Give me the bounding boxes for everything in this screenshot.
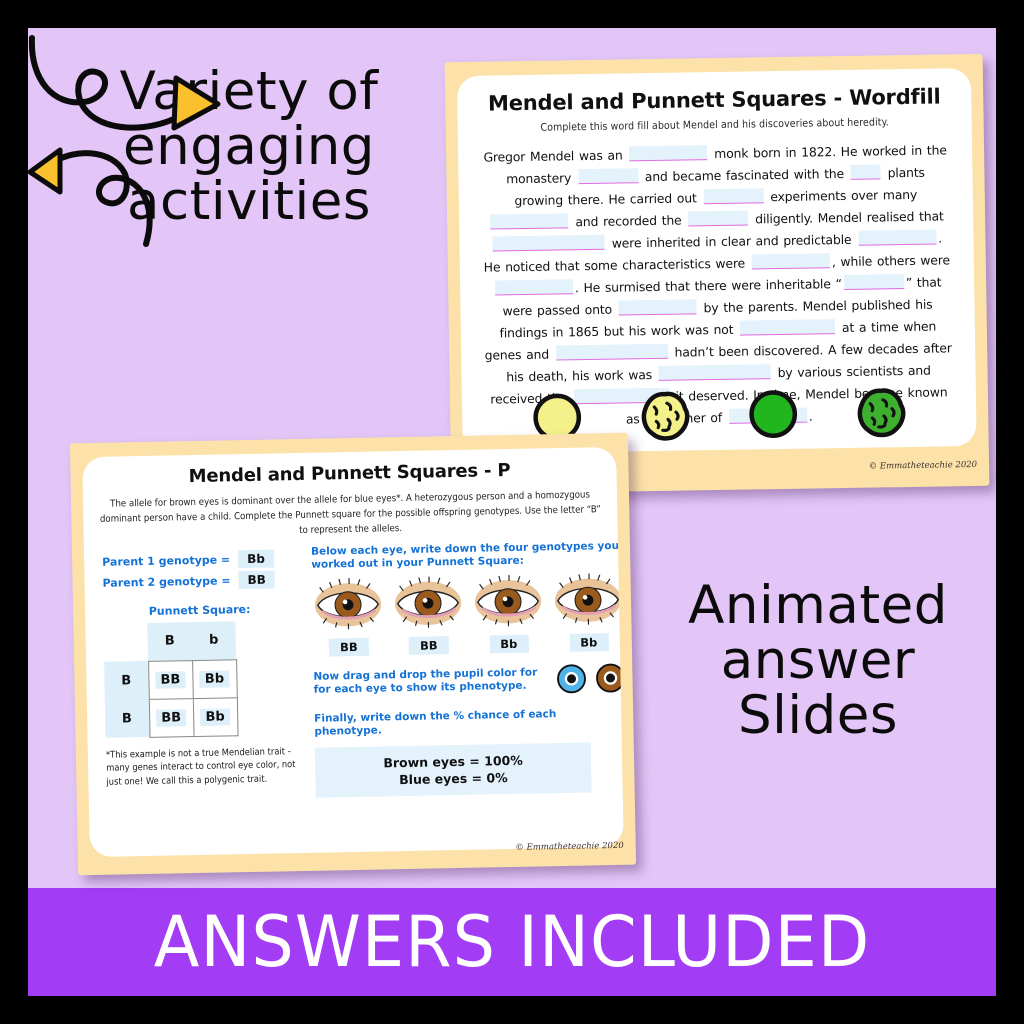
punnett-col-header: b xyxy=(191,621,236,660)
pupil-blue-icon[interactable] xyxy=(556,664,587,695)
eye-item: BB xyxy=(312,576,386,656)
punnett-cell-value: BB xyxy=(156,709,186,727)
wordfill-page: Mendel and Punnett Squares - Wordfill Co… xyxy=(457,68,977,454)
punnett-cell-value: BB xyxy=(155,671,185,689)
eye-genotype-tag[interactable]: BB xyxy=(409,636,449,655)
wordfill-blank[interactable] xyxy=(629,145,707,161)
wordfill-blank[interactable] xyxy=(688,211,748,227)
wordfill-blank[interactable] xyxy=(740,319,835,335)
punnett-cell[interactable]: Bb xyxy=(193,697,238,736)
wordfill-blank[interactable] xyxy=(578,168,638,184)
worksheet-card-punnett[interactable]: Mendel and Punnett Squares - P The allel… xyxy=(70,433,636,876)
wf-text: experiments over many xyxy=(770,187,917,204)
percent-answer-box[interactable]: Brown eyes = 100% Blue eyes = 0% xyxy=(315,742,592,797)
wordfill-blank[interactable] xyxy=(752,253,830,269)
punnett-page: Mendel and Punnett Squares - P The allel… xyxy=(82,447,624,857)
eye-icon xyxy=(551,572,623,627)
punnett-header-row: B b xyxy=(103,621,236,662)
punnett-row: B BB Bb xyxy=(104,659,237,700)
punnett-row-header: B xyxy=(105,699,150,738)
wordfill-blank[interactable] xyxy=(493,235,605,252)
wordfill-title: Mendel and Punnett Squares - Wordfill xyxy=(457,84,971,116)
drag-drop-row: Now drag and drop the pupil color for fo… xyxy=(313,665,623,699)
parent1-label: Parent 1 genotype = xyxy=(102,553,230,568)
punnett-cell-value: Bb xyxy=(200,670,230,688)
curved-arrow-right xyxy=(28,148,228,268)
pea-yellow-wrinkled xyxy=(638,388,693,443)
eye-item: BB xyxy=(392,575,466,655)
wf-text: . He surmised that there were inheritabl… xyxy=(575,276,842,295)
eye-item: Bb xyxy=(471,573,545,653)
parent2-value[interactable]: BB xyxy=(238,570,275,589)
wordfill-blank[interactable] xyxy=(495,279,573,295)
headline-right: Animated answer Slides xyxy=(638,578,996,743)
wordfill-blank[interactable] xyxy=(844,274,904,290)
punnett-row: B BB Bb xyxy=(105,697,238,738)
wf-text: , while others were xyxy=(832,252,950,269)
eye-genotype-tag[interactable]: Bb xyxy=(569,633,608,652)
pea-green-round xyxy=(746,387,801,442)
wordfill-subtitle: Complete this word fill about Mendel and… xyxy=(458,115,972,135)
pea-green-wrinkled xyxy=(854,385,909,440)
punnett-columns: Parent 1 genotype = Bb Parent 2 genotype… xyxy=(84,532,623,802)
drag-instruction: Now drag and drop the pupil color for fo… xyxy=(313,666,548,697)
wordfill-blank[interactable] xyxy=(619,299,697,315)
answers-included-banner: ANSWERS INCLUDED xyxy=(28,888,996,996)
punnett-footnote: *This example is not a true Mendelian tr… xyxy=(106,745,303,789)
wordfill-blank[interactable] xyxy=(851,164,881,179)
eye-genotype-tag[interactable]: Bb xyxy=(489,635,528,654)
punnett-grid: B b B BB Bb xyxy=(103,620,304,738)
parent1-row: Parent 1 genotype = Bb xyxy=(102,549,301,571)
punnett-square-heading: Punnett Square: xyxy=(149,603,251,618)
wf-text: and recorded the xyxy=(575,213,681,230)
eye-icon xyxy=(392,575,465,630)
punnett-right-column: Below each eye, write down the four geno… xyxy=(311,540,624,798)
wf-text: Gregor Mendel was an xyxy=(483,147,622,164)
wordfill-blank[interactable] xyxy=(703,188,763,204)
punnett-corner xyxy=(103,623,148,662)
pupil-brown-icon[interactable] xyxy=(595,663,624,694)
eye-genotype-tag[interactable]: BB xyxy=(329,638,369,657)
curved-arrow-left xyxy=(28,28,228,148)
percent-instruction: Finally, write down the % chance of each… xyxy=(314,707,624,739)
wf-text: were inherited in clear and predictable xyxy=(612,232,852,251)
punnett-left-column: Parent 1 genotype = Bb Parent 2 genotype… xyxy=(96,546,306,802)
wordfill-blank[interactable] xyxy=(490,213,568,229)
eye-row: BB xyxy=(312,572,624,657)
eye-icon xyxy=(471,573,544,628)
worksheet-card-wordfill[interactable]: Mendel and Punnett Squares - Wordfill Co… xyxy=(445,54,990,494)
punnett-row-header: B xyxy=(104,661,149,700)
wordfill-blank[interactable] xyxy=(556,344,668,361)
lavender-background: Variety of engaging activities Animated … xyxy=(28,28,996,996)
punnett-cell-value: Bb xyxy=(200,708,230,726)
parent2-row: Parent 2 genotype = BB xyxy=(102,570,301,592)
parent2-label: Parent 2 genotype = xyxy=(102,574,230,589)
wordfill-blank[interactable] xyxy=(858,230,936,246)
wf-text: and became fascinated with the xyxy=(645,166,844,184)
banner-text: ANSWERS INCLUDED xyxy=(154,907,871,977)
wordfill-copyright: © Emmatheteachie 2020 xyxy=(869,460,978,472)
parent1-value[interactable]: Bb xyxy=(238,550,274,569)
eye-item: Bb xyxy=(551,572,623,652)
wf-text: diligently. Mendel realised that xyxy=(755,208,944,226)
eye-icon xyxy=(312,576,385,631)
eye-instruction: Below each eye, write down the four geno… xyxy=(311,540,623,572)
punnett-copyright: © Emmatheteachie 2020 xyxy=(515,841,624,853)
wordfill-blank[interactable] xyxy=(659,364,771,381)
punnett-cell[interactable]: BB xyxy=(149,698,194,737)
pupil-swatches xyxy=(556,663,624,694)
punnett-title: Mendel and Punnett Squares - P xyxy=(82,458,616,489)
punnett-cell[interactable]: Bb xyxy=(192,659,237,698)
punnett-cell[interactable]: BB xyxy=(148,660,193,699)
poster-canvas: Variety of engaging activities Animated … xyxy=(0,0,1024,1024)
punnett-col-header: B xyxy=(147,622,192,661)
